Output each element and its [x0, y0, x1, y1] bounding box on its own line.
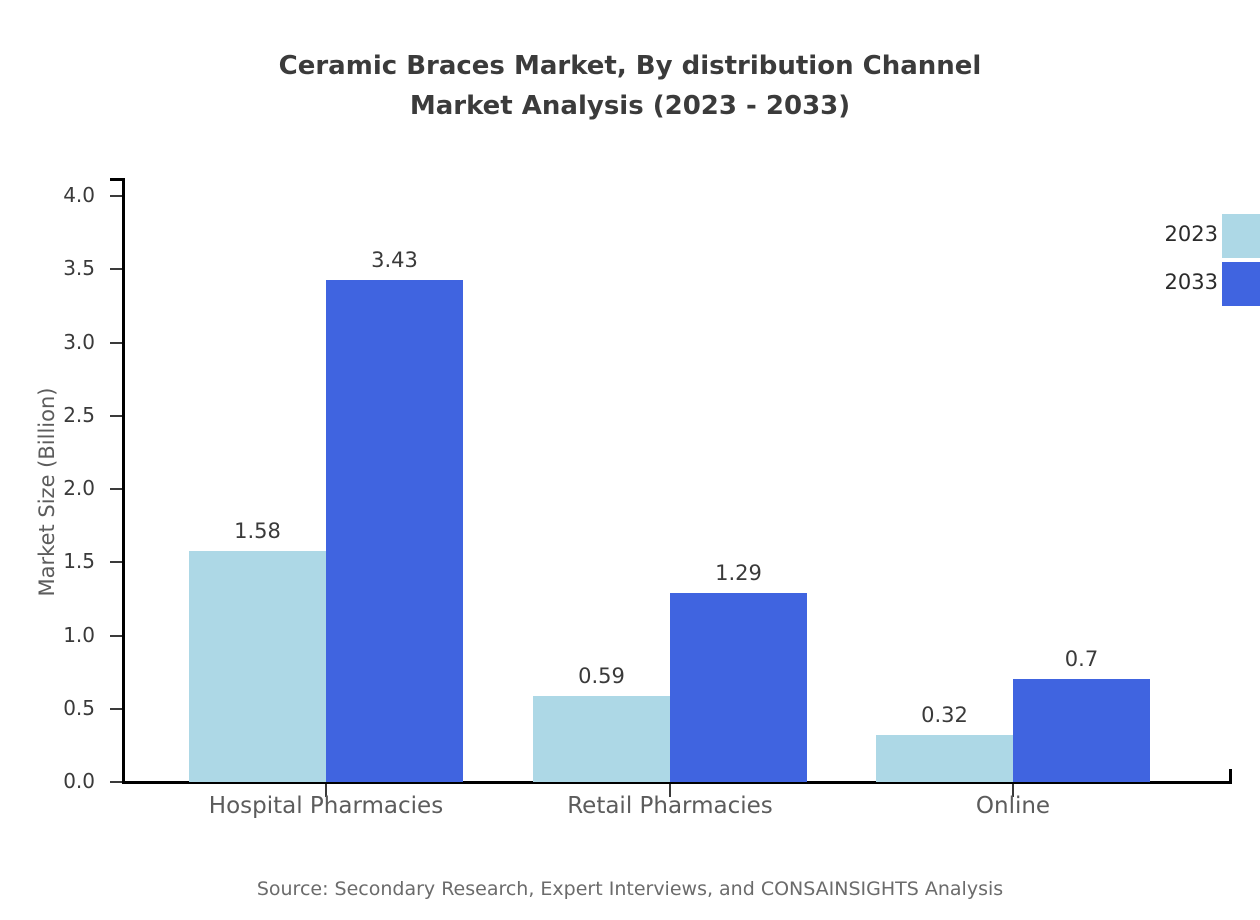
- legend: 20232033: [1130, 214, 1260, 310]
- y-axis-tick-label: 2.5: [5, 403, 95, 427]
- y-axis-tick: [110, 635, 122, 637]
- legend-item[interactable]: 2033: [1130, 262, 1260, 306]
- x-axis-category-label: Hospital Pharmacies: [146, 793, 506, 819]
- bar[interactable]: [670, 593, 807, 782]
- y-axis-tick-label: 1.5: [5, 549, 95, 573]
- y-axis-tick: [110, 342, 122, 344]
- bar[interactable]: [326, 280, 463, 782]
- y-axis-tick: [110, 561, 122, 563]
- legend-label: 2033: [1130, 270, 1218, 294]
- y-axis-tick-label: 1.0: [5, 623, 95, 647]
- legend-label: 2023: [1130, 222, 1218, 246]
- y-axis-tick-label: 3.0: [5, 330, 95, 354]
- y-axis-tick: [110, 195, 122, 197]
- y-axis-tick: [110, 415, 122, 417]
- x-axis-right-cap: [1229, 769, 1232, 784]
- bar-value-label: 0.7: [1002, 647, 1162, 671]
- chart-title-line-2: Market Analysis (2023 - 2033): [0, 86, 1260, 126]
- bar[interactable]: [876, 735, 1013, 782]
- bar[interactable]: [1013, 679, 1150, 782]
- legend-swatch: [1222, 262, 1260, 306]
- y-axis-tick: [110, 781, 122, 783]
- chart-title-line-1: Ceramic Braces Market, By distribution C…: [279, 51, 982, 81]
- bar-value-label: 0.59: [522, 664, 682, 688]
- legend-item[interactable]: 2023: [1130, 214, 1260, 258]
- y-axis-spine: [122, 178, 125, 784]
- y-axis-top-cap: [110, 178, 125, 181]
- y-axis-tick-label: 0.0: [5, 769, 95, 793]
- y-axis-tick: [110, 268, 122, 270]
- bar-value-label: 0.32: [865, 703, 1025, 727]
- y-axis-tick-label: 2.0: [5, 476, 95, 500]
- bar[interactable]: [189, 551, 326, 782]
- chart-title: Ceramic Braces Market, By distribution C…: [0, 46, 1260, 126]
- y-axis-tick: [110, 488, 122, 490]
- bar-chart: Ceramic Braces Market, By distribution C…: [0, 0, 1260, 920]
- y-axis-tick-label: 3.5: [5, 256, 95, 280]
- bar-value-label: 1.29: [659, 561, 819, 585]
- x-axis-category-label: Retail Pharmacies: [490, 793, 850, 819]
- y-axis-tick-label: 0.5: [5, 696, 95, 720]
- bar[interactable]: [533, 696, 670, 782]
- bar-value-label: 3.43: [315, 248, 475, 272]
- y-axis-tick-label: 4.0: [5, 183, 95, 207]
- y-axis-tick: [110, 708, 122, 710]
- x-axis-category-label: Online: [833, 793, 1193, 819]
- source-note: Source: Secondary Research, Expert Inter…: [0, 878, 1260, 900]
- legend-swatch: [1222, 214, 1260, 258]
- bar-value-label: 1.58: [178, 519, 338, 543]
